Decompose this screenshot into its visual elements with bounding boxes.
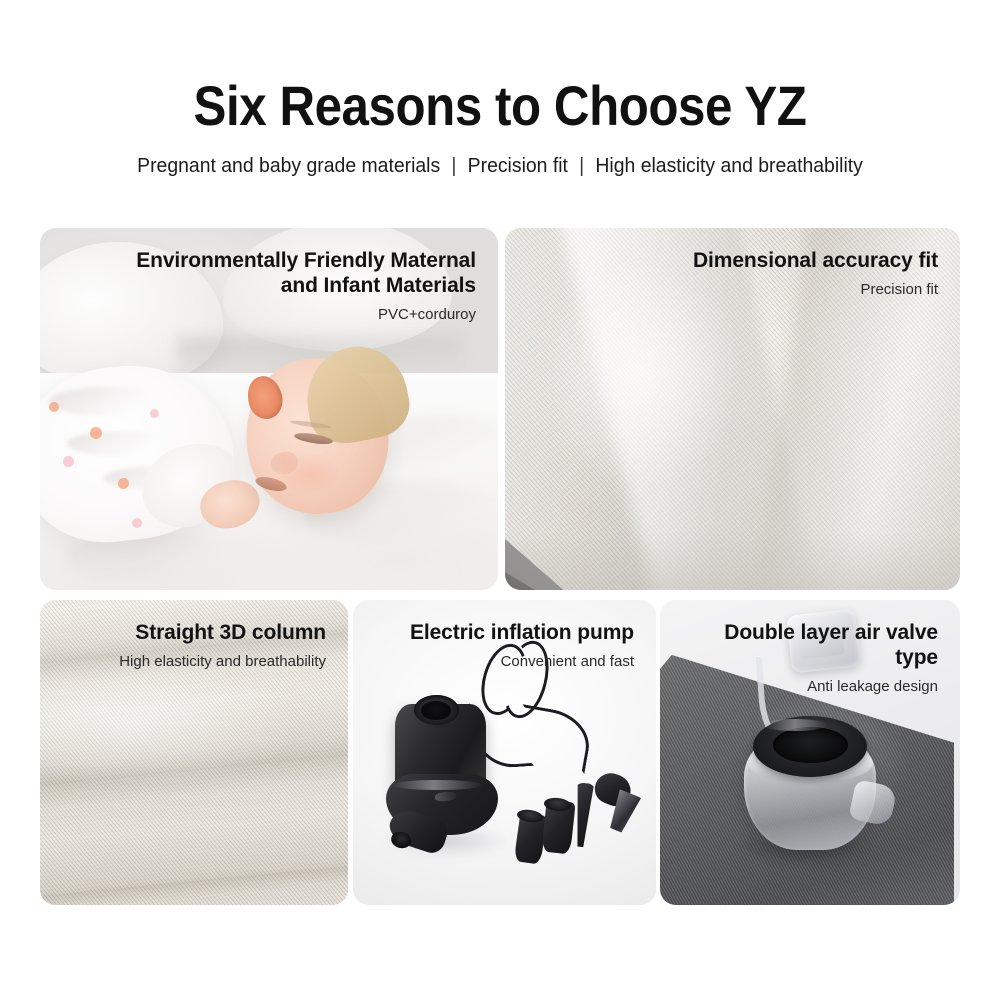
card-caption-fit: Dimensional accuracy fit Precision fit	[505, 228, 960, 299]
card-title-valve: Double layer air valve type	[682, 620, 938, 670]
card-subtitle-column: High elasticity and breathability	[62, 645, 326, 671]
card-title-materials: Environmentally Friendly Maternal and In…	[62, 248, 476, 298]
card-title-materials-line2: and Infant Materials	[281, 274, 476, 297]
feature-card-grid: Environmentally Friendly Maternal and In…	[0, 0, 1000, 1000]
card-subtitle-pump: Convenient and fast	[375, 645, 634, 671]
card-title-fit: Dimensional accuracy fit	[527, 248, 938, 273]
card-caption-pump: Electric inflation pump Convenient and f…	[353, 600, 656, 671]
feature-card-pump[interactable]: Electric inflation pump Convenient and f…	[353, 600, 656, 905]
card-title-column: Straight 3D column	[62, 620, 326, 645]
card-title-pump: Electric inflation pump	[375, 620, 634, 645]
card-caption-materials: Environmentally Friendly Maternal and In…	[40, 228, 498, 324]
feature-card-materials[interactable]: Environmentally Friendly Maternal and In…	[40, 228, 498, 590]
feature-card-column[interactable]: Straight 3D column High elasticity and b…	[40, 600, 348, 905]
card-caption-valve: Double layer air valve type Anti leakage…	[660, 600, 960, 696]
card-title-materials-line1: Environmentally Friendly Maternal	[136, 249, 476, 272]
card-subtitle-valve: Anti leakage design	[682, 670, 938, 696]
card-caption-column: Straight 3D column High elasticity and b…	[40, 600, 348, 671]
feature-card-valve[interactable]: Double layer air valve type Anti leakage…	[660, 600, 960, 905]
card-subtitle-materials: PVC+corduroy	[62, 298, 476, 324]
feature-card-fit[interactable]: Dimensional accuracy fit Precision fit	[505, 228, 960, 590]
card-subtitle-fit: Precision fit	[527, 273, 938, 299]
